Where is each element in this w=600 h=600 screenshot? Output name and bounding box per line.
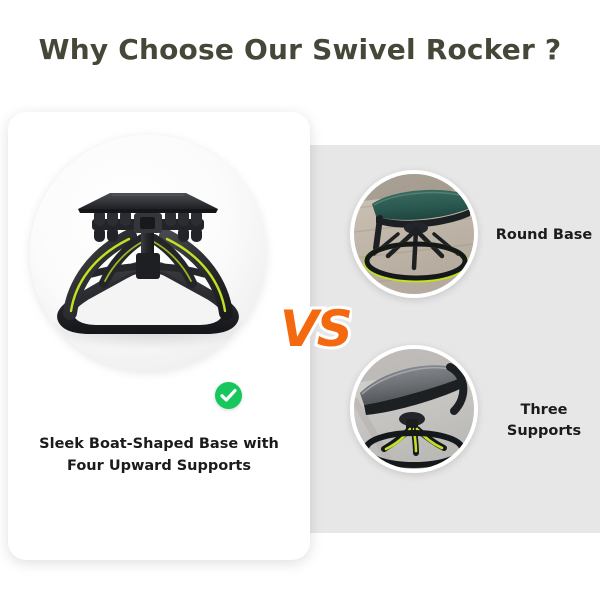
comparison-infographic: Why Choose Our Swivel Rocker ? xyxy=(0,0,600,600)
three-support-label: Three Supports xyxy=(494,400,594,442)
versus-badge: VS xyxy=(278,298,352,360)
three-support-photo xyxy=(350,345,478,473)
chair-rear-leg xyxy=(376,218,380,248)
three-support-label-line2: Supports xyxy=(494,421,594,442)
page-title: Why Choose Our Swivel Rocker ? xyxy=(0,33,600,66)
base-rail-inner-cutout xyxy=(73,271,222,325)
round-base-label: Round Base xyxy=(489,225,599,246)
center-post-collar xyxy=(136,253,160,279)
round-base-photo xyxy=(350,170,478,298)
hero-caption: Sleek Boat-Shaped Base with Four Upward … xyxy=(14,433,304,477)
round-base-label-line1: Round Base xyxy=(489,225,599,246)
top-mount-plate-edge xyxy=(78,209,218,213)
versus-label: VS xyxy=(280,300,351,358)
boat-shaped-base-illustration xyxy=(30,135,266,371)
hero-product-photo xyxy=(30,135,266,371)
three-support-label-line1: Three xyxy=(494,400,594,421)
hero-caption-line1: Sleek Boat-Shaped Base with xyxy=(14,433,304,455)
hub-block-center xyxy=(140,217,155,229)
check-circle-icon xyxy=(215,382,242,409)
hero-caption-line2: Four Upward Supports xyxy=(14,455,304,477)
